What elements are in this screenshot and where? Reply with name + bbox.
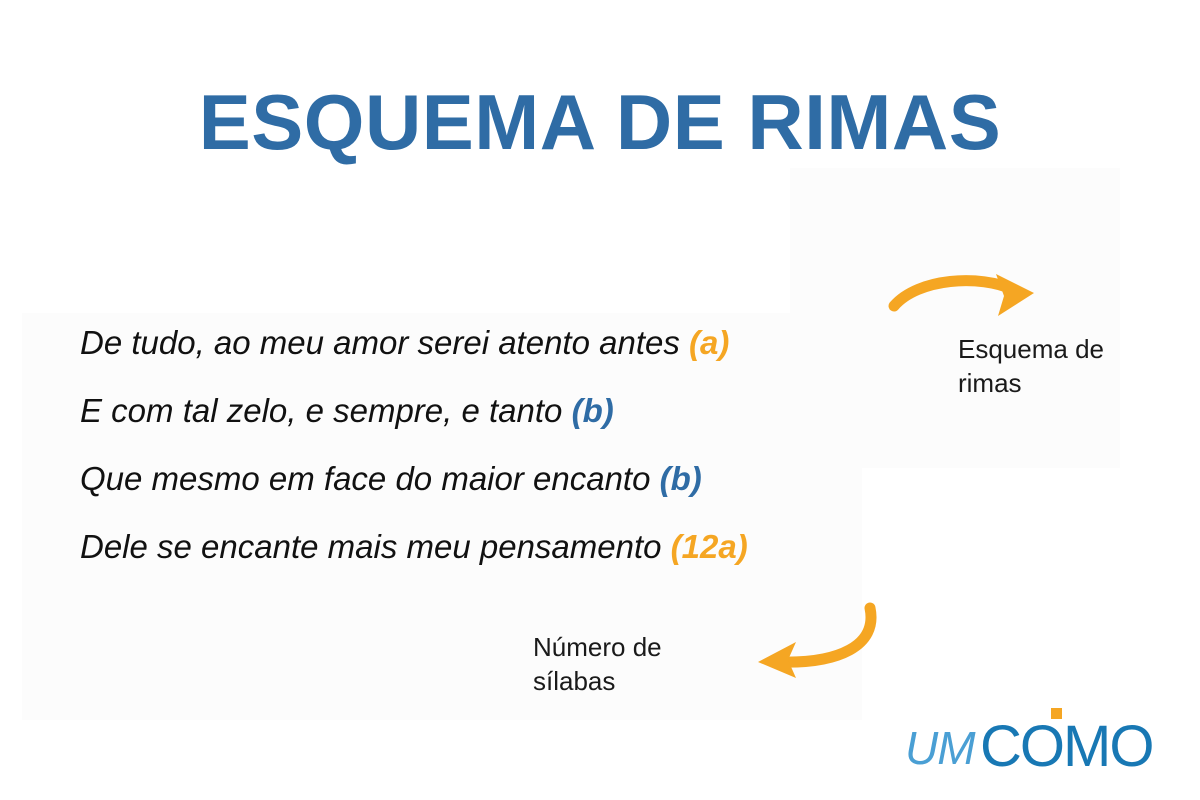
poem-line: Dele se encante mais meu pensamento (12a… [80,530,980,563]
poem-line-text: Dele se encante mais meu pensamento [80,528,671,565]
poem-line-text: De tudo, ao meu amor serei atento antes [80,324,689,361]
rhyme-marker: (12a) [671,528,748,565]
orange-square-dot-icon [1051,708,1062,719]
poem-line-text: E com tal zelo, e sempre, e tanto [80,392,572,429]
curved-arrow-left-icon [742,602,892,687]
brand-logo: UM COMO [905,706,1175,776]
logo-name: COMO [980,714,1152,776]
page-title: ESQUEMA DE RIMAS [0,58,1200,187]
logo-prefix: UM [905,722,976,774]
poem-block: De tudo, ao meu amor serei atento antes … [80,326,980,563]
rhyme-scheme-callout: Esquema de rimas [958,332,1173,401]
poem-line: Que mesmo em face do maior encanto (b) [80,462,980,495]
rhyme-marker: (b) [572,392,614,429]
curved-arrow-right-icon [888,272,1048,339]
poem-line: De tudo, ao meu amor serei atento antes … [80,326,980,359]
rhyme-marker: (b) [660,460,702,497]
poem-line-text: Que mesmo em face do maior encanto [80,460,660,497]
poem-line: E com tal zelo, e sempre, e tanto (b) [80,394,980,427]
syllable-count-callout: Número de sílabas [533,630,748,699]
rhyme-marker: (a) [689,324,729,361]
slide-canvas: ESQUEMA DE RIMAS De tudo, ao meu amor se… [0,0,1200,800]
